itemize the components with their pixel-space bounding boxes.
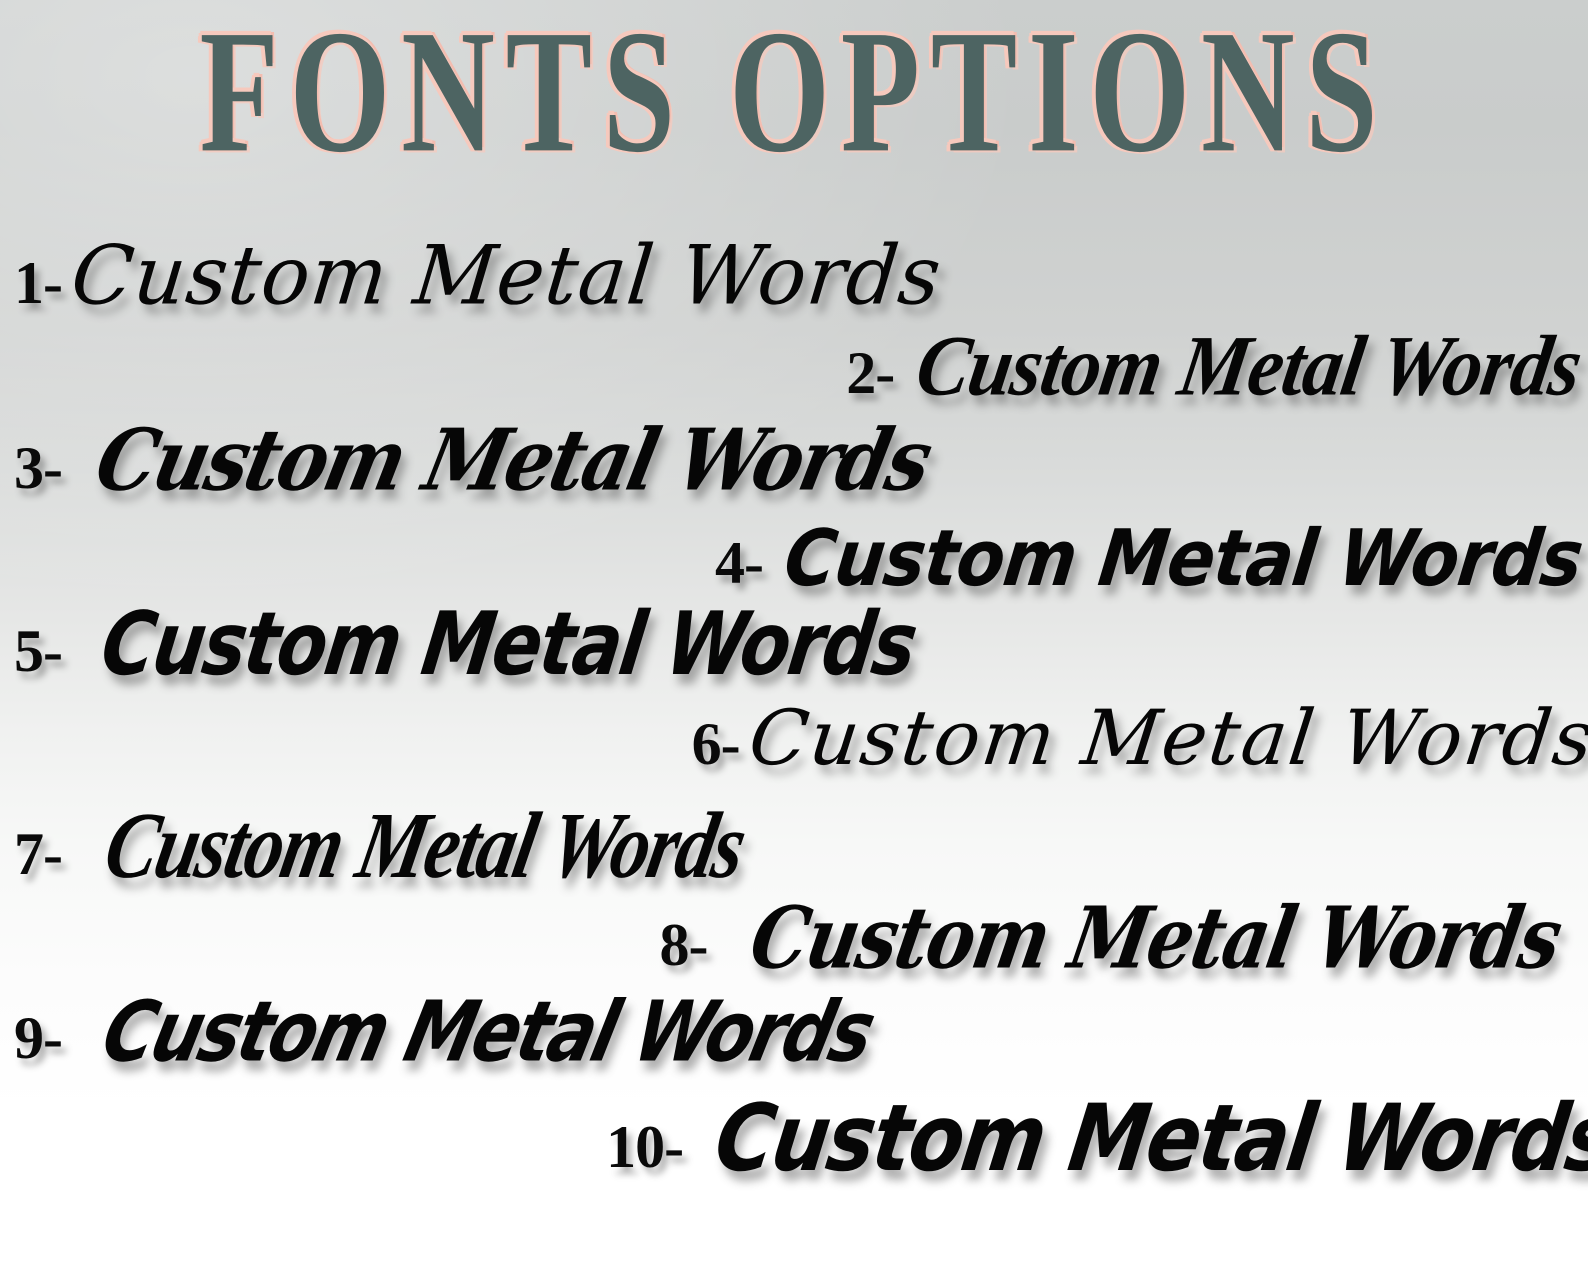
font-option-sample-3: Custom Metal Words (89, 418, 936, 503)
page-title-text: FONTS OPTIONS (200, 3, 1389, 179)
font-option-sample-8: Custom Metal Words (745, 896, 1566, 981)
font-option-number-1: 1- (14, 250, 62, 316)
font-option-sample-10: Custom Metal Words (710, 1092, 1588, 1184)
font-option-sample-2: Custom Metal Words (911, 323, 1587, 409)
font-option-row-1[interactable]: 1-Custom Metal Words (14, 236, 941, 316)
font-option-row-10[interactable]: 10-Custom Metal Words (606, 1096, 1588, 1180)
font-option-sample-7: Custom Metal Words (98, 798, 752, 893)
font-option-number-2: 2- (846, 340, 894, 406)
font-option-row-7[interactable]: 7-Custom Metal Words (14, 802, 778, 888)
font-option-sample-5: Custom Metal Words (96, 601, 920, 688)
font-option-row-6[interactable]: 6-Custom Metal Words (692, 700, 1588, 776)
font-option-row-8[interactable]: 8-Custom Metal Words (659, 900, 1588, 978)
font-option-sample-4: Custom Metal Words (781, 519, 1587, 597)
font-option-row-3[interactable]: 3-Custom Metal Words (14, 420, 954, 500)
font-option-row-4[interactable]: 4-Custom Metal Words (715, 522, 1588, 594)
page-title: FONTS OPTIONS (32, 8, 1556, 174)
font-option-row-5[interactable]: 5-Custom Metal Words (14, 606, 945, 684)
font-option-number-10: 10- (606, 1114, 683, 1180)
font-option-sample-6: Custom Metal Words (745, 700, 1588, 776)
font-option-number-3: 3- (14, 435, 62, 501)
font-option-number-4: 4- (715, 530, 763, 596)
fonts-options-poster: FONTS OPTIONS 1-Custom Metal Words 2-Cus… (0, 0, 1588, 1261)
font-option-sample-1: Custom Metal Words (68, 235, 946, 317)
font-option-row-9[interactable]: 9-Custom Metal Words (14, 994, 904, 1070)
font-option-row-2[interactable]: 2-Custom Metal Words (846, 325, 1588, 407)
font-option-number-5: 5- (14, 618, 62, 684)
title-block: FONTS OPTIONS (0, 0, 1588, 200)
font-option-number-9: 9- (14, 1005, 62, 1071)
font-option-number-6: 6- (692, 711, 740, 777)
font-option-sample-9: Custom Metal Words (96, 990, 880, 1074)
font-option-number-8: 8- (659, 912, 707, 978)
font-option-number-7: 7- (14, 821, 62, 887)
